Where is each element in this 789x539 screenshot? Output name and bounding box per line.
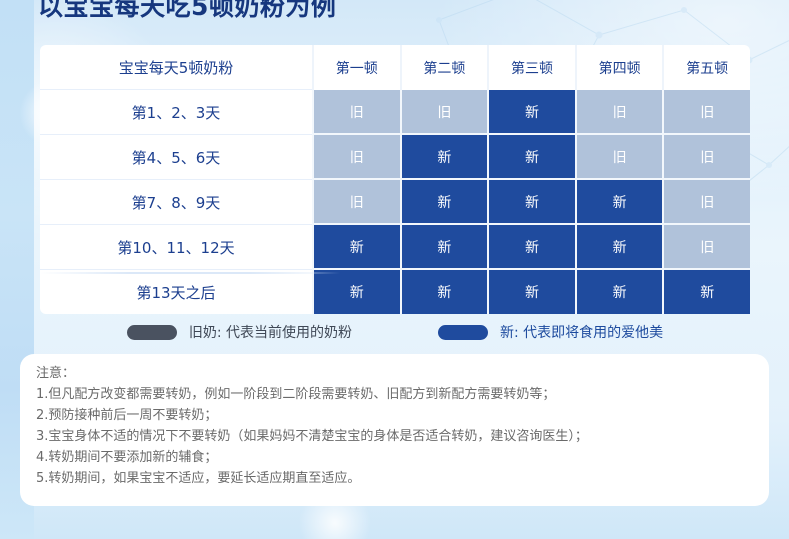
row-label-days-10-12: 第10、11、12天 bbox=[40, 225, 312, 270]
cell-r3c5: 旧 bbox=[662, 180, 750, 225]
notes-content: 注意： 1.但凡配方改变都需要转奶，例如一阶段到二阶段需要转奶、旧配方到新配方需… bbox=[36, 364, 757, 489]
legend-label-new: 新: 代表即将食用的爱他美 bbox=[500, 322, 663, 342]
legend-item-new-formula: 新: 代表即将食用的爱他美 bbox=[438, 322, 663, 342]
cell-r2c1: 旧 bbox=[312, 135, 400, 180]
cell-r4c2: 新 bbox=[400, 225, 488, 270]
cell-r1c3: 新 bbox=[487, 90, 575, 135]
note-item-4: 4.转奶期间不要添加新的辅食； bbox=[36, 447, 757, 468]
page-title: 以宝宝每天吃5顿奶粉为例 bbox=[38, 0, 336, 23]
infographic-page: 以宝宝每天吃5顿奶粉为例 宝宝每天5顿奶粉 第一顿 第二顿 第三顿 第四顿 第五… bbox=[0, 0, 789, 539]
cell-r2c5: 旧 bbox=[662, 135, 750, 180]
cell-r5c3: 新 bbox=[487, 270, 575, 314]
cell-r5c1: 新 bbox=[312, 270, 400, 314]
cell-r5c2: 新 bbox=[400, 270, 488, 314]
table-corner-header: 宝宝每天5顿奶粉 bbox=[40, 45, 312, 90]
cell-r3c1: 旧 bbox=[312, 180, 400, 225]
cell-r1c2: 旧 bbox=[400, 90, 488, 135]
row-label-days-7-9: 第7、8、9天 bbox=[40, 180, 312, 225]
transition-schedule-table-container: 宝宝每天5顿奶粉 第一顿 第二顿 第三顿 第四顿 第五顿 第1、2、3天 旧 旧… bbox=[40, 45, 750, 314]
cell-r3c3: 新 bbox=[487, 180, 575, 225]
column-header-meal-1: 第一顿 bbox=[312, 45, 400, 90]
cell-r2c4: 旧 bbox=[575, 135, 663, 180]
cell-r3c4: 新 bbox=[575, 180, 663, 225]
cell-r4c3: 新 bbox=[487, 225, 575, 270]
cell-r2c3: 新 bbox=[487, 135, 575, 180]
table-row: 第1、2、3天 旧 旧 新 旧 旧 bbox=[40, 90, 750, 135]
row-label-days-1-3: 第1、2、3天 bbox=[40, 90, 312, 135]
notes-heading: 注意： bbox=[36, 364, 757, 384]
note-item-3: 3.宝宝身体不适的情况下不要转奶（如果妈妈不清楚宝宝的身体是否适合转奶，建议咨询… bbox=[36, 426, 757, 447]
cell-r5c5: 新 bbox=[662, 270, 750, 314]
note-item-5: 5.转奶期间，如果宝宝不适应，要延长适应期直至适应。 bbox=[36, 468, 757, 489]
legend: 旧奶: 代表当前使用的奶粉 新: 代表即将食用的爱他美 bbox=[40, 322, 750, 342]
note-item-2: 2.预防接种前后一周不要转奶； bbox=[36, 405, 757, 426]
row-label-day-13-onward: 第13天之后 bbox=[40, 270, 312, 314]
legend-label-old: 旧奶: 代表当前使用的奶粉 bbox=[189, 322, 352, 342]
note-item-1: 1.但凡配方改变都需要转奶，例如一阶段到二阶段需要转奶、旧配方到新配方需要转奶等… bbox=[36, 384, 757, 405]
cell-r1c1: 旧 bbox=[312, 90, 400, 135]
legend-swatch-old-icon bbox=[127, 325, 177, 340]
table-header-row: 宝宝每天5顿奶粉 第一顿 第二顿 第三顿 第四顿 第五顿 bbox=[40, 45, 750, 90]
cell-r2c2: 新 bbox=[400, 135, 488, 180]
table-row: 第4、5、6天 旧 新 新 旧 旧 bbox=[40, 135, 750, 180]
row-label-days-4-6: 第4、5、6天 bbox=[40, 135, 312, 180]
cell-r1c5: 旧 bbox=[662, 90, 750, 135]
column-header-meal-5: 第五顿 bbox=[662, 45, 750, 90]
cell-r5c4: 新 bbox=[575, 270, 663, 314]
notes-card: 注意： 1.但凡配方改变都需要转奶，例如一阶段到二阶段需要转奶、旧配方到新配方需… bbox=[20, 354, 769, 506]
transition-schedule-table: 宝宝每天5顿奶粉 第一顿 第二顿 第三顿 第四顿 第五顿 第1、2、3天 旧 旧… bbox=[40, 45, 750, 314]
cell-r4c5: 旧 bbox=[662, 225, 750, 270]
table-row: 第13天之后 新 新 新 新 新 bbox=[40, 270, 750, 314]
legend-item-old-formula: 旧奶: 代表当前使用的奶粉 bbox=[127, 322, 352, 342]
column-header-meal-4: 第四顿 bbox=[575, 45, 663, 90]
table-row: 第10、11、12天 新 新 新 新 旧 bbox=[40, 225, 750, 270]
cell-r1c4: 旧 bbox=[575, 90, 663, 135]
table-row: 第7、8、9天 旧 新 新 新 旧 bbox=[40, 180, 750, 225]
cell-r4c4: 新 bbox=[575, 225, 663, 270]
legend-swatch-new-icon bbox=[438, 325, 488, 340]
column-header-meal-2: 第二顿 bbox=[400, 45, 488, 90]
cell-r4c1: 新 bbox=[312, 225, 400, 270]
cell-r3c2: 新 bbox=[400, 180, 488, 225]
column-header-meal-3: 第三顿 bbox=[487, 45, 575, 90]
